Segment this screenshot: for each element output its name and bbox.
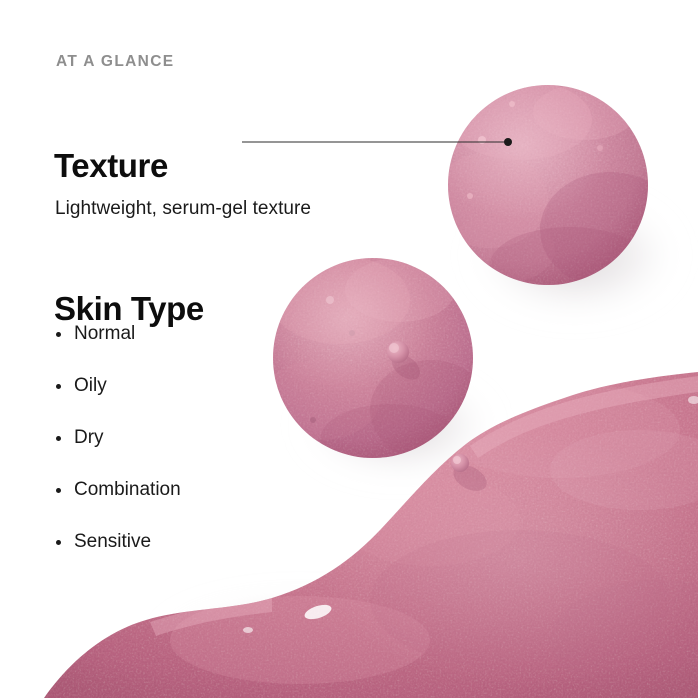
bullet-dot-icon	[56, 540, 61, 545]
texture-description: Lightweight, serum-gel texture	[55, 198, 311, 220]
list-item-label: Normal	[74, 323, 135, 344]
list-item-label: Combination	[74, 479, 181, 500]
bullet-dot-icon	[56, 332, 61, 337]
list-item: Sensitive	[54, 529, 181, 581]
eyebrow-label: AT A GLANCE	[56, 53, 174, 71]
list-item-label: Dry	[74, 427, 104, 448]
texture-heading: Texture	[54, 147, 168, 185]
bullet-dot-icon	[56, 488, 61, 493]
bullet-dot-icon	[56, 384, 61, 389]
list-item: Oily	[54, 373, 181, 425]
list-item: Normal	[54, 321, 181, 373]
list-item: Combination	[54, 477, 181, 529]
skin-type-list: Normal Oily Dry Combination Sensitive	[54, 321, 181, 581]
at-a-glance-card: AT A GLANCE Texture Lightweight, serum-g…	[0, 0, 698, 698]
content-layer: AT A GLANCE Texture Lightweight, serum-g…	[0, 0, 698, 698]
list-item: Dry	[54, 425, 181, 477]
bullet-dot-icon	[56, 436, 61, 441]
list-item-label: Sensitive	[74, 531, 151, 552]
list-item-label: Oily	[74, 375, 107, 396]
